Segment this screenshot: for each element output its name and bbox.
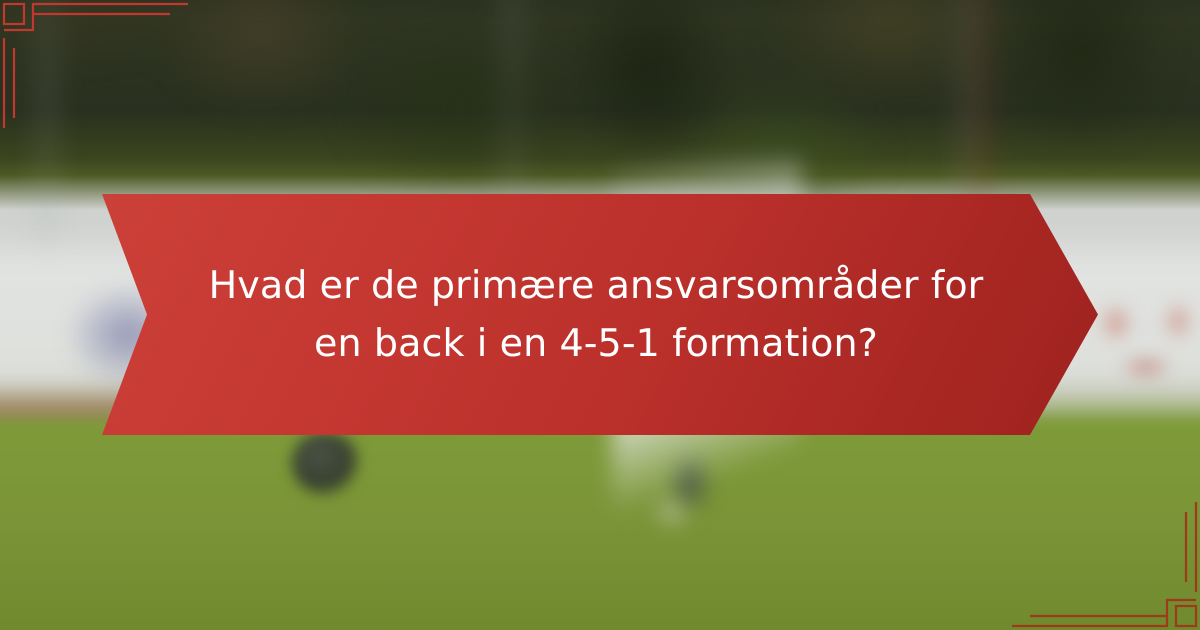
headline-banner-inner: Hvad er de primære ansvarsområder for en…	[149, 257, 1051, 373]
headline-text: Hvad er de primære ansvarsområder for en…	[201, 257, 991, 373]
headline-banner: Hvad er de primære ansvarsområder for en…	[102, 194, 1098, 435]
poster-canvas: Hvad er de primære ansvarsområder for en…	[0, 0, 1200, 630]
